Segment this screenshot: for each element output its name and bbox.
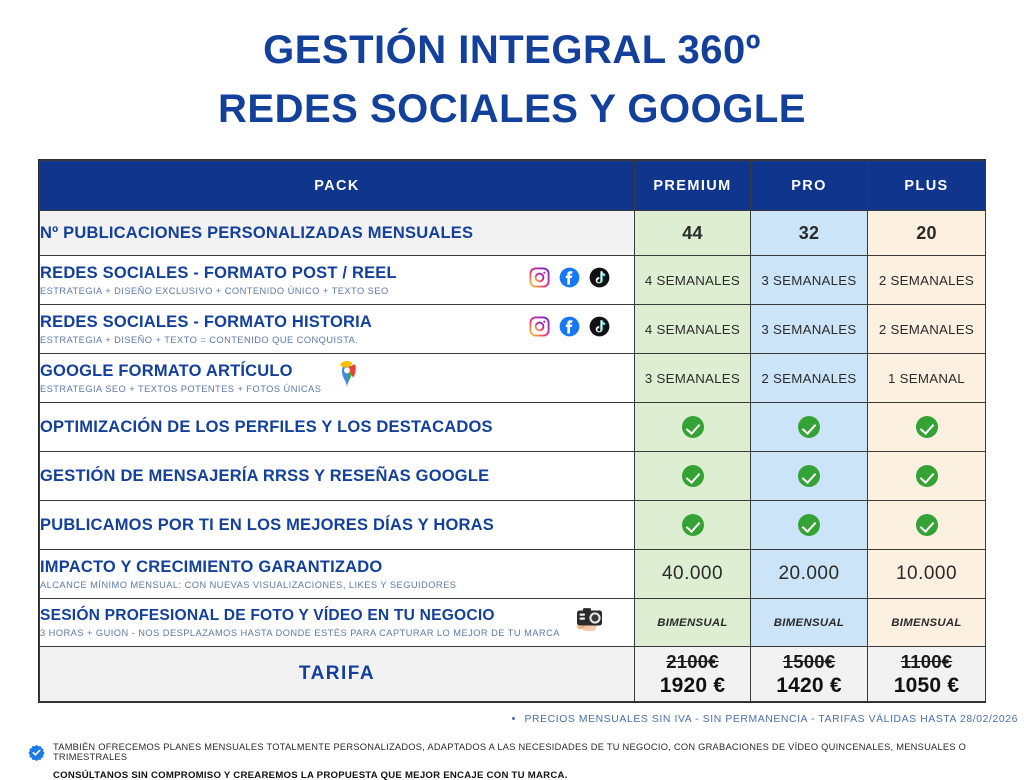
cell-pro: 32: [751, 211, 868, 256]
cell-premium: BIMENSUAL: [635, 599, 751, 647]
table-row: GOOGLE FORMATO ARTÍCULO ESTRATEGIA SEO +…: [40, 354, 986, 403]
cell-plus: [868, 452, 986, 501]
instagram-icon: [529, 267, 550, 293]
tarifa-cell-pro: 1500€ 1420 €: [751, 647, 868, 702]
tarifa-label-cell: TARIFA: [40, 647, 635, 702]
tarifa-cell-plus: 1100€ 1050 €: [868, 647, 986, 702]
check-icon: [916, 514, 938, 536]
cell-premium: 44: [635, 211, 751, 256]
row-label-cell: Nº PUBLICACIONES PERSONALIZADAS MENSUALE…: [40, 211, 635, 256]
cell-premium: [635, 501, 751, 550]
cell-plus: 10.000: [868, 550, 986, 599]
header-plus: PLUS: [868, 161, 986, 211]
price-new-plus: 1050 €: [868, 674, 985, 698]
cell-plus: [868, 403, 986, 452]
table-row: GESTIÓN DE MENSAJERÍA RRSS Y RESEÑAS GOO…: [40, 452, 986, 501]
cell-pro: 20.000: [751, 550, 868, 599]
footer-note-text: PRECIOS MENSUALES SIN IVA - SIN PERMANEN…: [524, 714, 1018, 725]
verified-badge-icon: [28, 744, 45, 761]
row-title: GOOGLE FORMATO ARTÍCULO: [40, 362, 321, 380]
bullet-icon: [512, 717, 515, 720]
cell-pro: 3 SEMANALES: [751, 256, 868, 305]
footer-block: TAMBIÉN OFRECEMOS PLANES MENSUALES TOTAL…: [28, 742, 1018, 780]
camera-icon: [570, 605, 610, 640]
footer-price-note: PRECIOS MENSUALES SIN IVA - SIN PERMANEN…: [0, 714, 1018, 725]
cell-premium: 4 SEMANALES: [635, 256, 751, 305]
row-title: SESIÓN PROFESIONAL DE FOTO Y VÍDEO EN TU…: [40, 607, 634, 624]
cell-premium: 4 SEMANALES: [635, 305, 751, 354]
table-row: PUBLICAMOS POR TI EN LOS MEJORES DÍAS Y …: [40, 501, 986, 550]
cell-premium: 3 SEMANALES: [635, 354, 751, 403]
footer-text-line-2: CONSÚLTANOS SIN COMPROMISO Y CREAREMOS L…: [53, 770, 1018, 780]
instagram-icon: [529, 316, 550, 342]
tarifa-cell-premium: 2100€ 1920 €: [635, 647, 751, 702]
cell-plus: 1 SEMANAL: [868, 354, 986, 403]
tarifa-row: TARIFA 2100€ 1920 € 1500€ 1420 € 1100€ 1…: [40, 647, 986, 702]
cell-pro: [751, 452, 868, 501]
row-title: IMPACTO Y CRECIMIENTO GARANTIZADO: [40, 558, 634, 576]
table-row: Nº PUBLICACIONES PERSONALIZADAS MENSUALE…: [40, 211, 986, 256]
table-row: SESIÓN PROFESIONAL DE FOTO Y VÍDEO EN TU…: [40, 599, 986, 647]
social-icon-group: [529, 267, 610, 293]
price-old-premium: 2100€: [635, 651, 750, 673]
check-icon: [798, 416, 820, 438]
pricing-table: PACK PREMIUM PRO PLUS Nº PUBLICACIONES P…: [39, 160, 986, 702]
row-title: GESTIÓN DE MENSAJERÍA RRSS Y RESEÑAS GOO…: [40, 467, 634, 485]
table-row: IMPACTO Y CRECIMIENTO GARANTIZADO ALCANC…: [40, 550, 986, 599]
tiktok-icon: [589, 316, 610, 342]
row-label-cell: GESTIÓN DE MENSAJERÍA RRSS Y RESEÑAS GOO…: [40, 452, 635, 501]
price-new-premium: 1920 €: [635, 674, 750, 698]
title-line-2: REDES SOCIALES Y GOOGLE: [0, 85, 1024, 134]
check-icon: [916, 465, 938, 487]
camera-icon-wrap: [570, 605, 610, 640]
table-row: REDES SOCIALES - FORMATO HISTORIA ESTRAT…: [40, 305, 986, 354]
title-line-1: GESTIÓN INTEGRAL 360º: [0, 26, 1024, 75]
cell-plus: [868, 501, 986, 550]
social-icon-group: [529, 316, 610, 342]
facebook-icon: [559, 267, 580, 293]
check-icon: [682, 465, 704, 487]
row-title: OPTIMIZACIÓN DE LOS PERFILES Y LOS DESTA…: [40, 418, 634, 436]
cell-plus: 2 SEMANALES: [868, 305, 986, 354]
row-label-cell: REDES SOCIALES - FORMATO POST / REEL EST…: [40, 256, 635, 305]
cell-pro: [751, 403, 868, 452]
cell-pro: 2 SEMANALES: [751, 354, 868, 403]
pricing-table-container: PACK PREMIUM PRO PLUS Nº PUBLICACIONES P…: [38, 159, 986, 703]
row-label-cell: OPTIMIZACIÓN DE LOS PERFILES Y LOS DESTA…: [40, 403, 635, 452]
header-pro: PRO: [751, 161, 868, 211]
facebook-icon: [559, 316, 580, 342]
header-premium: PREMIUM: [635, 161, 751, 211]
check-icon: [798, 514, 820, 536]
price-new-pro: 1420 €: [751, 674, 867, 698]
cell-plus: BIMENSUAL: [868, 599, 986, 647]
cell-pro: [751, 501, 868, 550]
pricing-poster: GESTIÓN INTEGRAL 360º REDES SOCIALES Y G…: [0, 0, 1024, 780]
row-label-cell: REDES SOCIALES - FORMATO HISTORIA ESTRAT…: [40, 305, 635, 354]
footer-text-line-1: TAMBIÉN OFRECEMOS PLANES MENSUALES TOTAL…: [53, 742, 1018, 762]
tarifa-label: TARIFA: [40, 663, 634, 684]
table-row: REDES SOCIALES - FORMATO POST / REEL EST…: [40, 256, 986, 305]
cell-plus: 20: [868, 211, 986, 256]
row-label-cell: IMPACTO Y CRECIMIENTO GARANTIZADO ALCANC…: [40, 550, 635, 599]
price-old-pro: 1500€: [751, 651, 867, 673]
row-label-cell: SESIÓN PROFESIONAL DE FOTO Y VÍDEO EN TU…: [40, 599, 635, 647]
check-icon: [916, 416, 938, 438]
cell-premium: [635, 452, 751, 501]
page-title: GESTIÓN INTEGRAL 360º REDES SOCIALES Y G…: [0, 0, 1024, 134]
table-row: OPTIMIZACIÓN DE LOS PERFILES Y LOS DESTA…: [40, 403, 986, 452]
tiktok-icon: [589, 267, 610, 293]
cell-pro: 3 SEMANALES: [751, 305, 868, 354]
check-icon: [798, 465, 820, 487]
table-header-row: PACK PREMIUM PRO PLUS: [40, 161, 986, 211]
row-title: Nº PUBLICACIONES PERSONALIZADAS MENSUALE…: [40, 224, 634, 242]
cell-premium: 40.000: [635, 550, 751, 599]
footer-row-1: TAMBIÉN OFRECEMOS PLANES MENSUALES TOTAL…: [28, 742, 1018, 762]
row-label-cell: GOOGLE FORMATO ARTÍCULO ESTRATEGIA SEO +…: [40, 354, 635, 403]
row-label-cell: PUBLICAMOS POR TI EN LOS MEJORES DÍAS Y …: [40, 501, 635, 550]
cell-premium: [635, 403, 751, 452]
price-old-plus: 1100€: [868, 651, 985, 673]
check-icon: [682, 514, 704, 536]
google-maps-pin-icon: [334, 359, 360, 394]
row-subtitle: ESTRATEGIA SEO + TEXTOS POTENTES + FOTOS…: [40, 384, 321, 394]
cell-pro: BIMENSUAL: [751, 599, 868, 647]
row-subtitle: 3 HORAS + GUION - NOS DESPLAZAMOS HASTA …: [40, 628, 634, 638]
cell-plus: 2 SEMANALES: [868, 256, 986, 305]
check-icon: [682, 416, 704, 438]
header-pack: PACK: [40, 161, 635, 211]
row-subtitle: ALCANCE MÍNIMO MENSUAL: CON NUEVAS VISUA…: [40, 580, 634, 590]
row-title: PUBLICAMOS POR TI EN LOS MEJORES DÍAS Y …: [40, 516, 634, 534]
